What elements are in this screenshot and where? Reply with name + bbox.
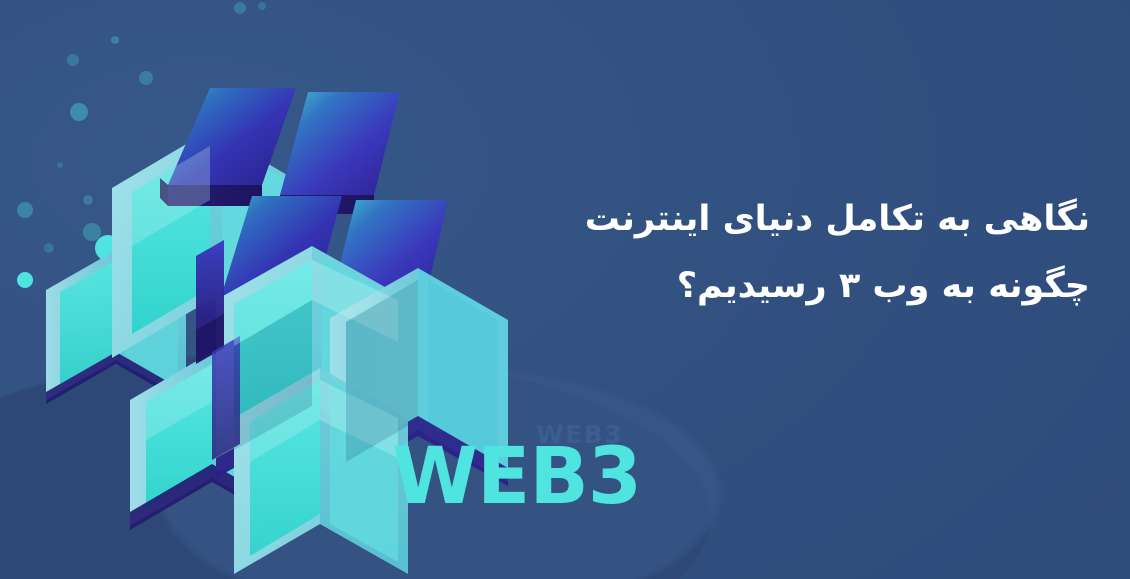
headline-line-1: نگاهی به تکامل دنیای اینترنت <box>450 186 1090 253</box>
web3-banner: WEB3 WEB3 نگاهی به تکامل دنیای اینترنت چ… <box>0 0 1130 579</box>
headline-line-2: چگونه به وب ۳ رسیدیم؟ <box>450 253 1090 320</box>
headline: نگاهی به تکامل دنیای اینترنت چگونه به وب… <box>450 186 1090 319</box>
